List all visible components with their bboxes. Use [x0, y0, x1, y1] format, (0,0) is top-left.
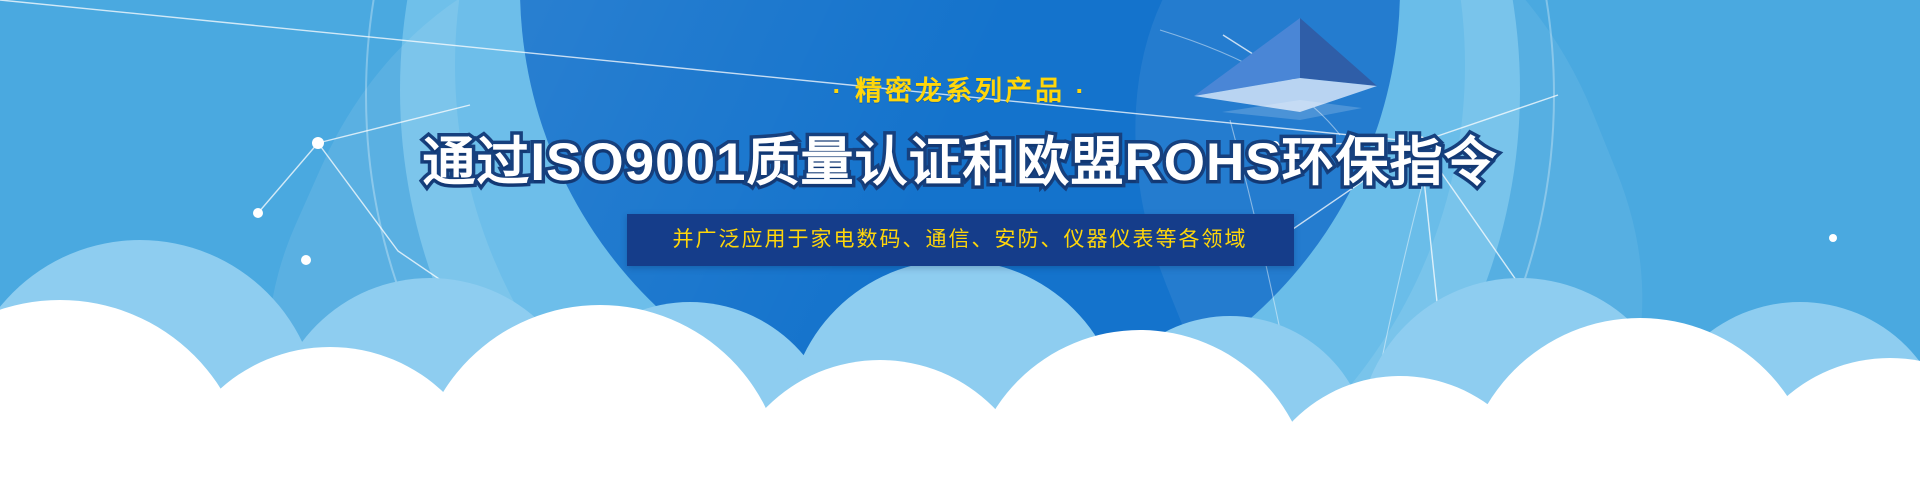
- banner-content: · 精密龙系列产品 · 通过ISO9001质量认证和欧盟ROHS环保指令 并广泛…: [0, 0, 1920, 266]
- banner-eyebrow: · 精密龙系列产品 ·: [0, 0, 1920, 105]
- promo-banner: · 精密龙系列产品 · 通过ISO9001质量认证和欧盟ROHS环保指令 并广泛…: [0, 0, 1920, 480]
- banner-subtitle-bar: 并广泛应用于家电数码、通信、安防、仪器仪表等各领域: [627, 214, 1294, 266]
- banner-subtitle-wrap: 并广泛应用于家电数码、通信、安防、仪器仪表等各领域: [0, 192, 1920, 266]
- banner-headline: 通过ISO9001质量认证和欧盟ROHS环保指令: [0, 105, 1920, 192]
